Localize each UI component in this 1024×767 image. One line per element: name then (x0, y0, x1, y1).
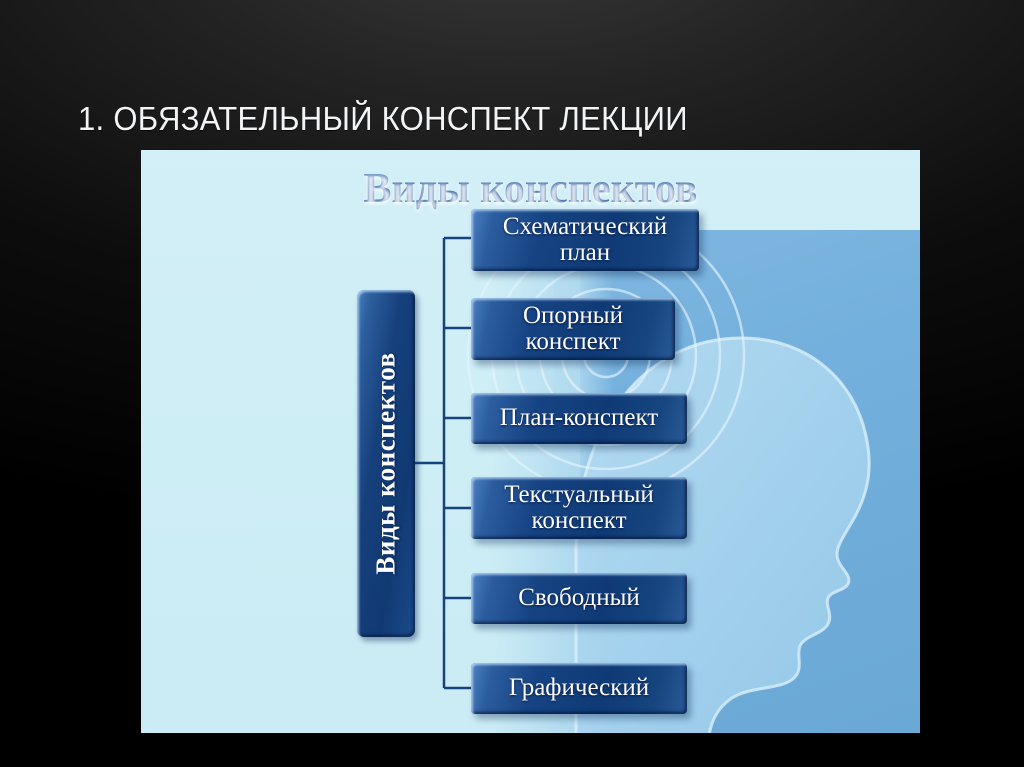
diagram-title: Виды конспектов (141, 165, 920, 213)
node-box-4-line1: Текстуальный (504, 482, 654, 509)
node-box-4-line2: конспект (504, 508, 654, 535)
node-box-2-line1: Опорный (523, 303, 623, 330)
node-box-6-line1: Графический (509, 675, 649, 702)
slide-image: Виды конспектов Виды конспектов Схематич… (141, 150, 920, 733)
node-box-2[interactable]: Опорный конспект (471, 298, 675, 360)
node-box-4[interactable]: Текстуальный конспект (471, 477, 687, 539)
node-box-6[interactable]: Графический (471, 663, 687, 714)
node-box-3-line1: План-конспект (500, 405, 658, 432)
node-box-5-line1: Свободный (518, 585, 640, 612)
root-node[interactable]: Виды конспектов (357, 290, 415, 637)
node-box-1-line2: план (503, 240, 667, 267)
presentation-stage: 1. ОБЯЗАТЕЛЬНЫЙ КОНСПЕКТ ЛЕКЦИИ (0, 0, 1024, 767)
node-box-5[interactable]: Свободный (471, 573, 687, 624)
node-box-1-line1: Схематический (503, 214, 667, 241)
node-box-3[interactable]: План-конспект (471, 393, 687, 444)
page-title: 1. ОБЯЗАТЕЛЬНЫЙ КОНСПЕКТ ЛЕКЦИИ (78, 100, 688, 138)
node-box-2-line2: конспект (523, 329, 623, 356)
node-box-1[interactable]: Схематический план (471, 209, 699, 271)
root-node-label: Виды конспектов (371, 352, 402, 574)
